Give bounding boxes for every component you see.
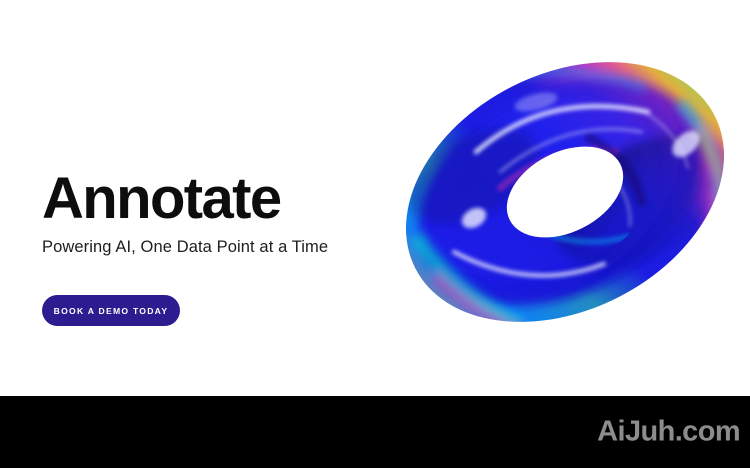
hero-section: Annotate Powering AI, One Data Point at … <box>0 0 750 396</box>
torus-illustration <box>380 40 750 350</box>
hero-subtitle: Powering AI, One Data Point at a Time <box>42 238 382 258</box>
page-root: Annotate Powering AI, One Data Point at … <box>0 0 750 468</box>
page-title: Annotate <box>42 170 382 228</box>
book-a-demo-button[interactable]: BOOK A DEMO TODAY <box>42 295 180 326</box>
hero-copy-block: Annotate Powering AI, One Data Point at … <box>42 170 382 258</box>
footer-bar: AiJuh.com <box>0 396 750 468</box>
watermark-text: AiJuh.com <box>597 416 740 449</box>
